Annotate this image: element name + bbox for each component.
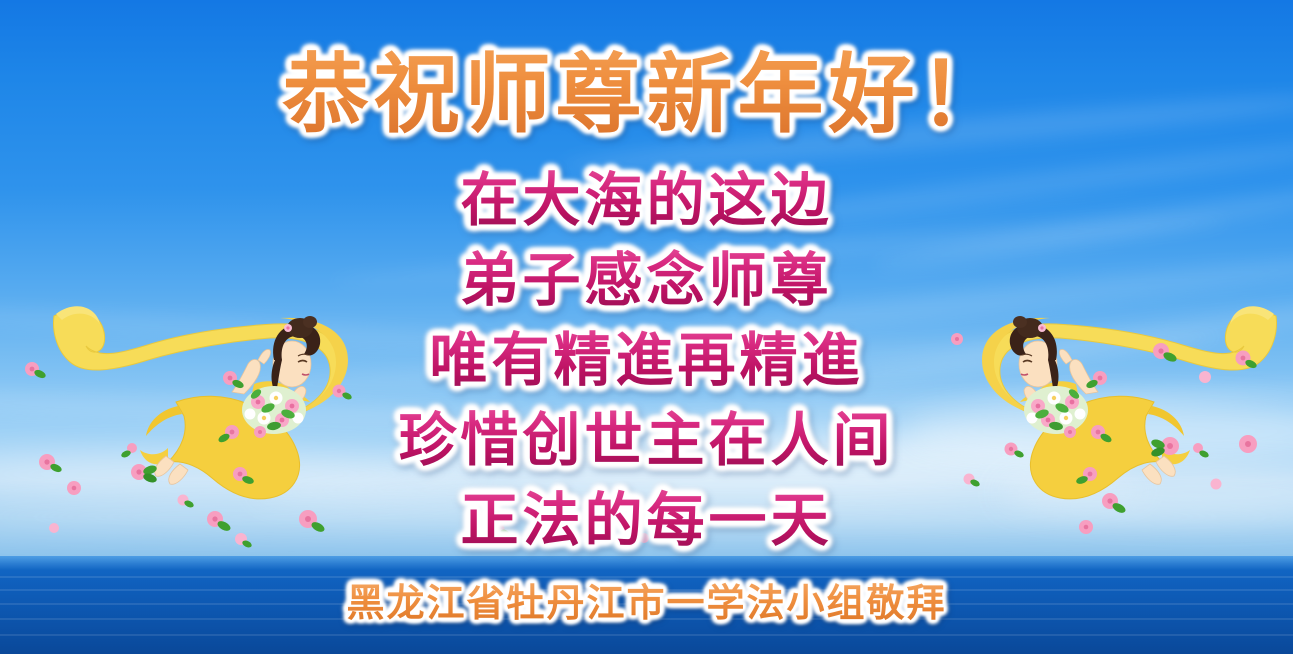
poem-line: 珍惜创世主在人间 [0,400,1293,480]
poem-line: 唯有精進再精進 [0,320,1293,400]
greeting-card: 恭祝师尊新年好！ 在大海的这边 弟子感念师尊 唯有精進再精進 珍惜创世主在人间 … [0,0,1293,654]
page-title: 恭祝师尊新年好！ [0,24,1293,149]
poem-line: 正法的每一天 [0,480,1293,560]
poem-block: 在大海的这边 弟子感念师尊 唯有精進再精進 珍惜创世主在人间 正法的每一天 [0,160,1293,560]
poem-line: 在大海的这边 [0,160,1293,240]
poem-line: 弟子感念师尊 [0,240,1293,320]
signature-line: 黑龙江省牡丹江市一学法小组敬拜 [0,572,1293,627]
wave-line [0,634,1293,636]
